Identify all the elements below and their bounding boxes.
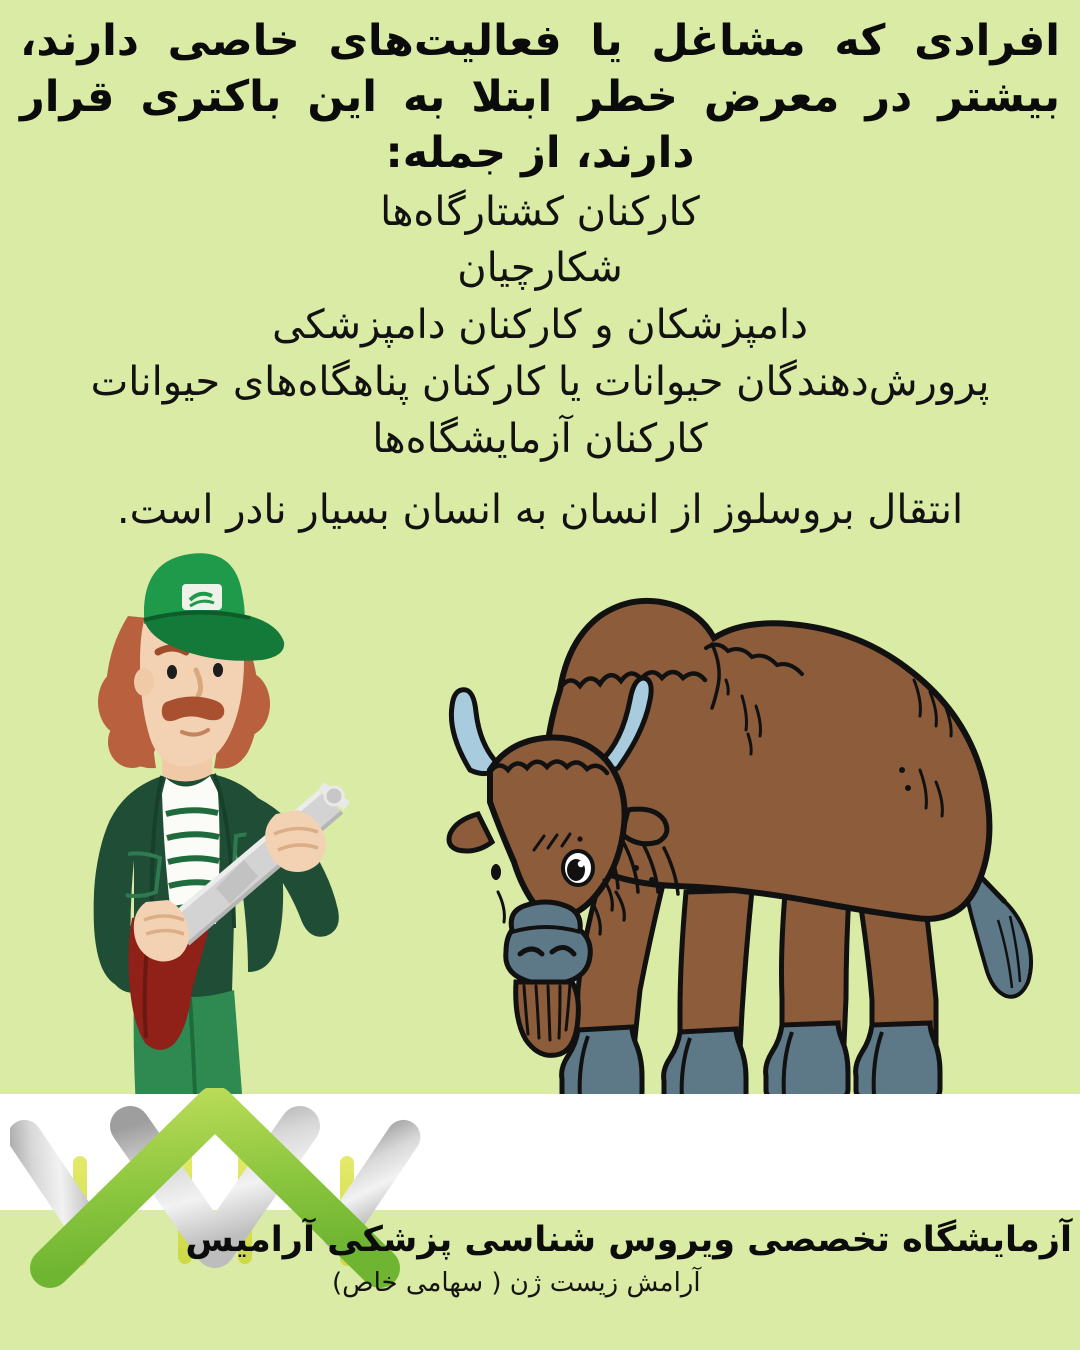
illustration-area [0, 520, 1080, 1120]
poster-canvas: افرادی که مشاغل یا فعالیت‌های خاصی دارند… [0, 0, 1080, 1350]
brand-subtitle: آرامش زیست ژن ( سهامی خاص) [332, 1268, 1072, 1299]
risk-group-item-1: کارکنان کشتارگاه‌ها [20, 184, 1060, 241]
footer-brand-bar: آزمایشگاه تخصصی ویروس شناسی پزشکی آرامیس… [0, 1094, 1080, 1350]
headline-text: افرادی که مشاغل یا فعالیت‌های خاصی دارند… [20, 14, 1060, 182]
risk-group-item-5: کارکنان آزمایشگاه‌ها [20, 411, 1060, 468]
bison-illustration [449, 601, 1031, 1103]
risk-group-item-3: دامپزشکان و کارکنان دامپزشکی [20, 297, 1060, 354]
footer-text-group: آزمایشگاه تخصصی ویروس شناسی پزشکی آرامیس… [332, 1220, 1072, 1299]
risk-group-item-2: شکارچیان [20, 240, 1060, 297]
text-block: افرادی که مشاغل یا فعالیت‌های خاصی دارند… [0, 0, 1080, 538]
hunter-illustration [94, 553, 350, 1120]
risk-group-item-4: پرورش‌دهندگان حیوانات یا کارکنان پناهگاه… [20, 354, 1060, 411]
brand-title: آزمایشگاه تخصصی ویروس شناسی پزشکی آرامیس [332, 1220, 1072, 1260]
